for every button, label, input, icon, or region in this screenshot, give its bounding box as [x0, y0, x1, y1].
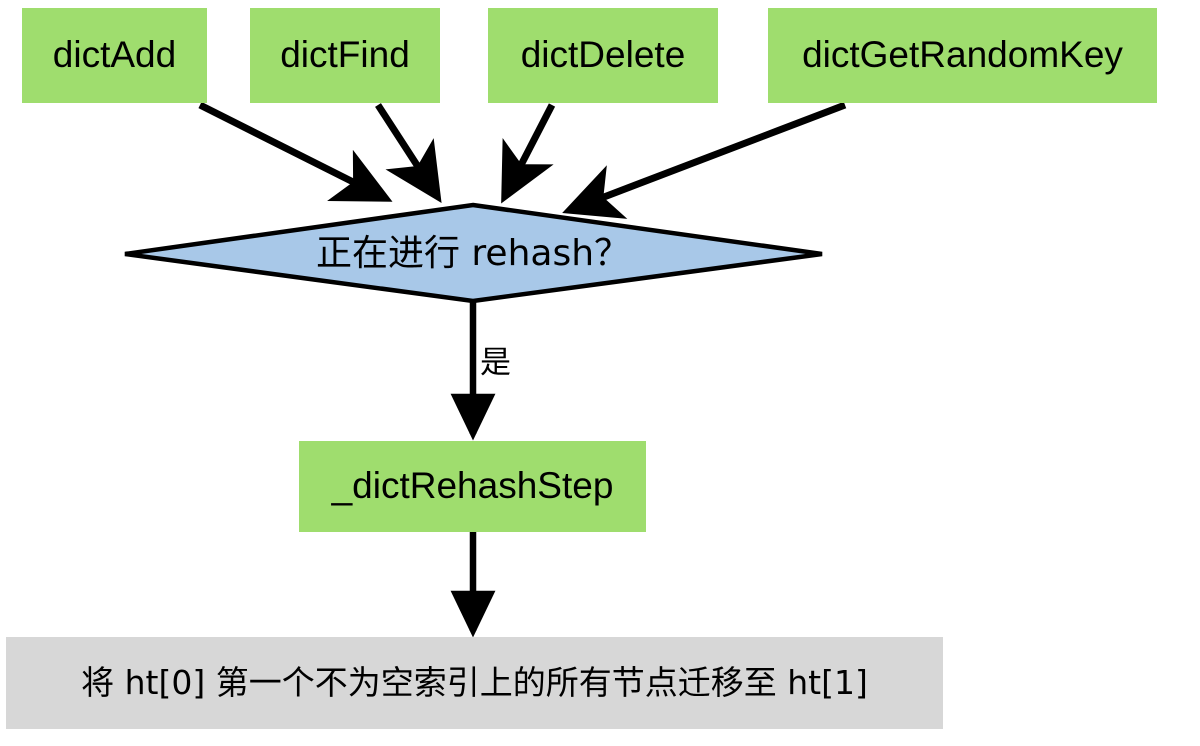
- node-dict-find-label: dictFind: [280, 34, 410, 77]
- edge-dictadd-to-decision: [200, 105, 385, 198]
- node-dict-add[interactable]: dictAdd: [22, 8, 207, 103]
- node-dict-rehash-step[interactable]: _dictRehashStep: [299, 441, 646, 532]
- edge-dictfind-to-decision: [378, 105, 437, 196]
- node-decision-rehash[interactable]: 正在进行 rehash？: [263, 226, 683, 282]
- node-migrate-bucket[interactable]: 将 ht[0] 第一个不为空索引上的所有节点迁移至 ht[1]: [6, 637, 943, 729]
- node-dict-get-random-key[interactable]: dictGetRandomKey: [768, 8, 1157, 103]
- node-dict-delete-label: dictDelete: [521, 34, 686, 77]
- node-migrate-bucket-label: 将 ht[0] 第一个不为空索引上的所有节点迁移至 ht[1]: [81, 664, 868, 702]
- flowchart-canvas: dictAdd dictFind dictDelete dictGetRando…: [0, 0, 1200, 746]
- edge-label-yes: 是: [480, 348, 511, 379]
- edge-dictgetrandomkey-to-decision: [570, 105, 845, 210]
- connector-layer: [0, 0, 1200, 746]
- node-dict-delete[interactable]: dictDelete: [488, 8, 718, 103]
- node-dict-get-random-key-label: dictGetRandomKey: [802, 34, 1123, 77]
- node-dict-find[interactable]: dictFind: [250, 8, 440, 103]
- edge-dictdelete-to-decision: [505, 105, 552, 196]
- node-dict-rehash-step-label: _dictRehashStep: [332, 465, 614, 508]
- node-decision-rehash-label: 正在进行 rehash？: [316, 233, 630, 274]
- node-dict-add-label: dictAdd: [53, 34, 176, 77]
